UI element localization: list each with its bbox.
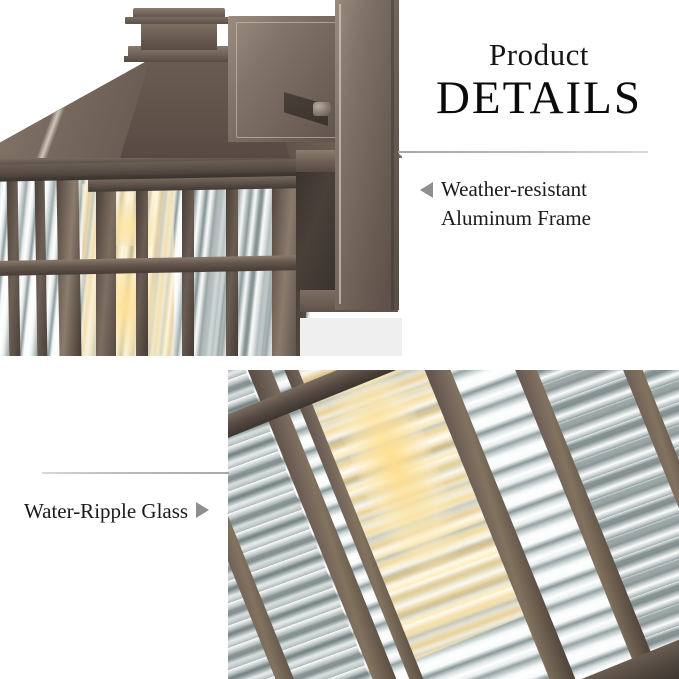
mount-bolt xyxy=(313,102,331,116)
finial-cap xyxy=(133,8,225,20)
roof-hip-ridge-left xyxy=(0,58,154,158)
callout-label-aluminum-frame: Weather-resistant Aluminum Frame xyxy=(441,175,670,233)
outdoor-wall-lantern-top-photo xyxy=(0,0,402,356)
wall-mount-plate-bevel xyxy=(236,22,348,138)
callout-divider-right xyxy=(398,151,648,153)
callout-water-ripple-glass: Water-Ripple Glass xyxy=(24,497,274,526)
water-ripple-glass-closeup-photo xyxy=(228,370,679,679)
callout-label-water-ripple-glass: Water-Ripple Glass xyxy=(24,497,188,526)
finial-body xyxy=(141,24,217,50)
triangle-right-icon xyxy=(196,502,209,518)
mount-arm-edge-shadow xyxy=(391,0,394,310)
triangle-left-icon xyxy=(420,182,433,198)
lantern-illustration-top xyxy=(0,0,402,356)
glass-closeup-illustration xyxy=(228,370,679,679)
glass-panel-tilted-group xyxy=(228,370,679,679)
product-details-page: Product DETAILS Weather-resistant Alumin… xyxy=(0,0,679,679)
page-title: Product DETAILS xyxy=(404,38,674,124)
top-photo-gray-panel xyxy=(300,318,402,356)
page-title-line-1: Product xyxy=(404,38,674,71)
wall-mount-arm xyxy=(335,0,399,310)
mount-arm-highlight xyxy=(339,4,341,304)
page-title-line-2: DETAILS xyxy=(404,73,674,124)
callout-weather-resistant-aluminum-frame: Weather-resistant Aluminum Frame xyxy=(420,175,670,233)
callout-divider-left xyxy=(42,472,229,474)
